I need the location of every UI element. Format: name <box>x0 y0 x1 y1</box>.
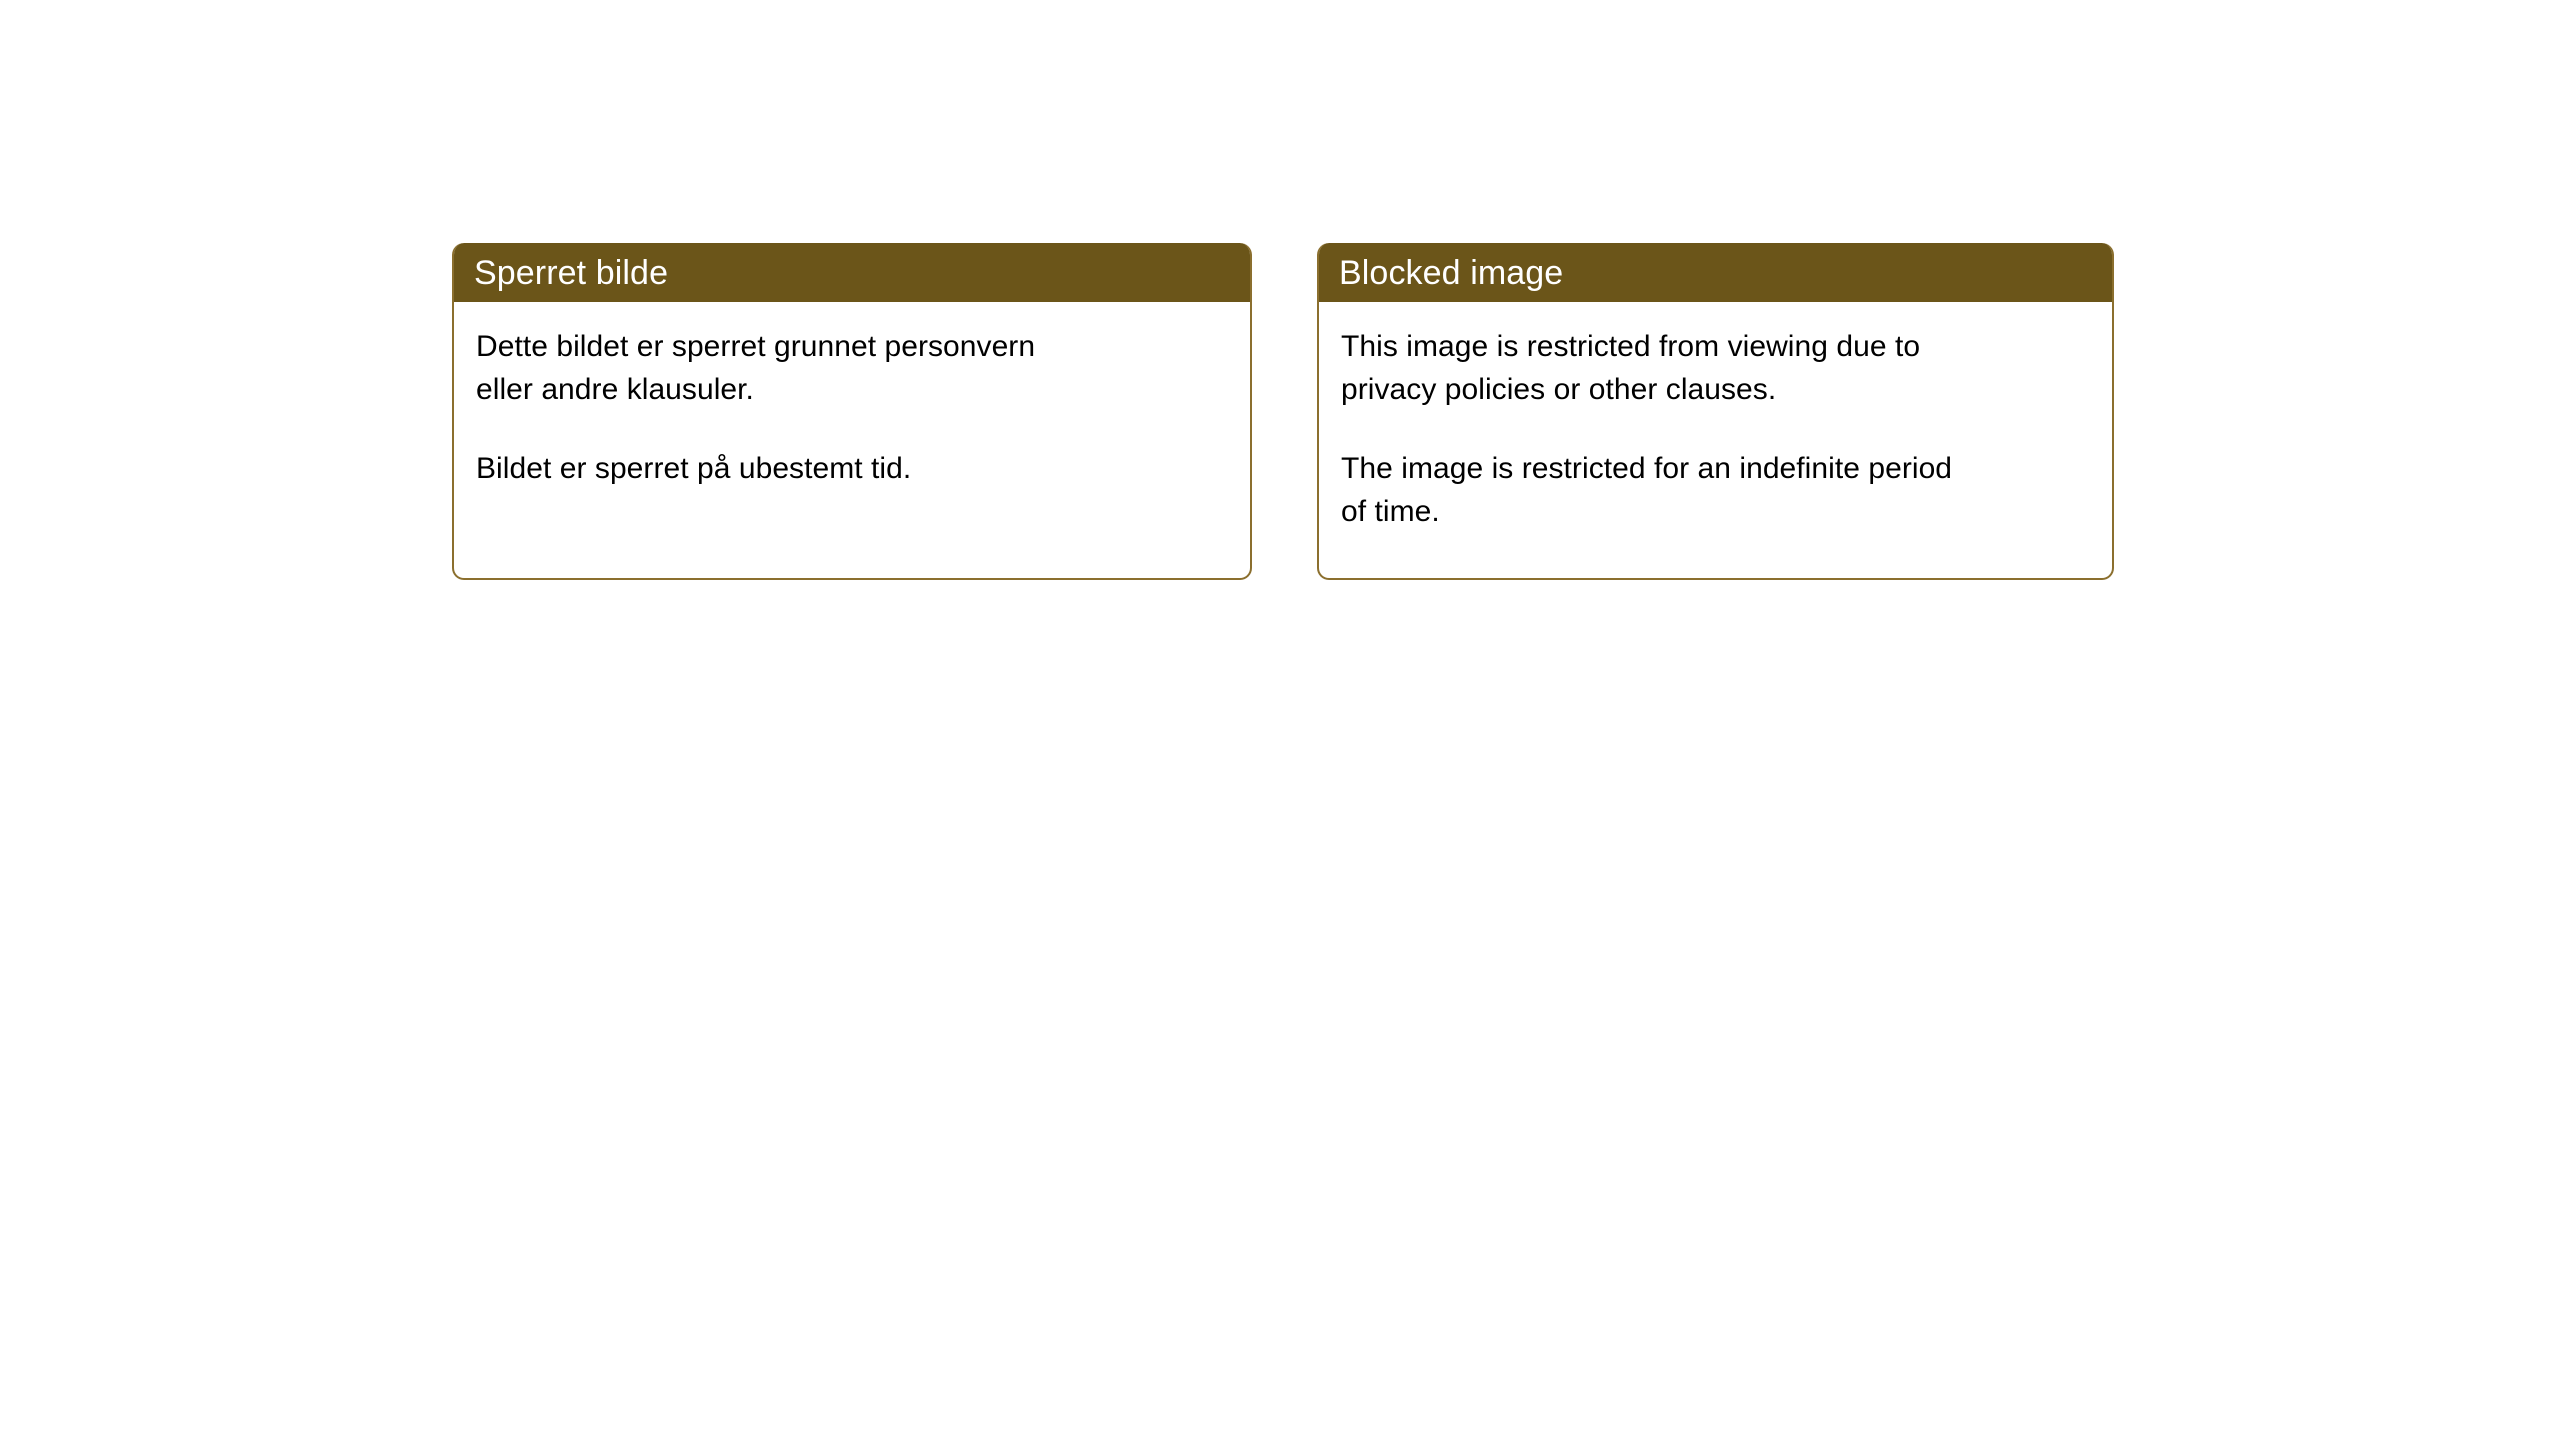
paragraph-line: of time. <box>1341 490 2090 533</box>
card-header-english: Blocked image <box>1317 243 2114 302</box>
card-header-norwegian: Sperret bilde <box>452 243 1252 302</box>
paragraph-line: privacy policies or other clauses. <box>1341 368 2090 411</box>
card-title-english: Blocked image <box>1339 253 1563 293</box>
notice-paragraph-privacy-english: This image is restricted from viewing du… <box>1341 325 2090 411</box>
card-body-english: This image is restricted from viewing du… <box>1319 302 2112 533</box>
notice-paragraph-privacy-norwegian: Dette bildet er sperret grunnet personve… <box>476 325 1228 411</box>
blocked-image-notice-card-english: Blocked image This image is restricted f… <box>1317 243 2114 580</box>
paragraph-line: Bildet er sperret på ubestemt tid. <box>476 447 1228 490</box>
notice-paragraph-duration-english: The image is restricted for an indefinit… <box>1341 447 2090 533</box>
notice-paragraph-duration-norwegian: Bildet er sperret på ubestemt tid. <box>476 447 1228 490</box>
paragraph-line: eller andre klausuler. <box>476 368 1228 411</box>
card-title-norwegian: Sperret bilde <box>474 253 668 293</box>
page-canvas: Sperret bilde Dette bildet er sperret gr… <box>0 0 2560 1440</box>
paragraph-line: The image is restricted for an indefinit… <box>1341 447 2090 490</box>
blocked-image-notice-card-norwegian: Sperret bilde Dette bildet er sperret gr… <box>452 243 1252 580</box>
paragraph-line: Dette bildet er sperret grunnet personve… <box>476 325 1228 368</box>
paragraph-line: This image is restricted from viewing du… <box>1341 325 2090 368</box>
card-body-norwegian: Dette bildet er sperret grunnet personve… <box>454 302 1250 490</box>
